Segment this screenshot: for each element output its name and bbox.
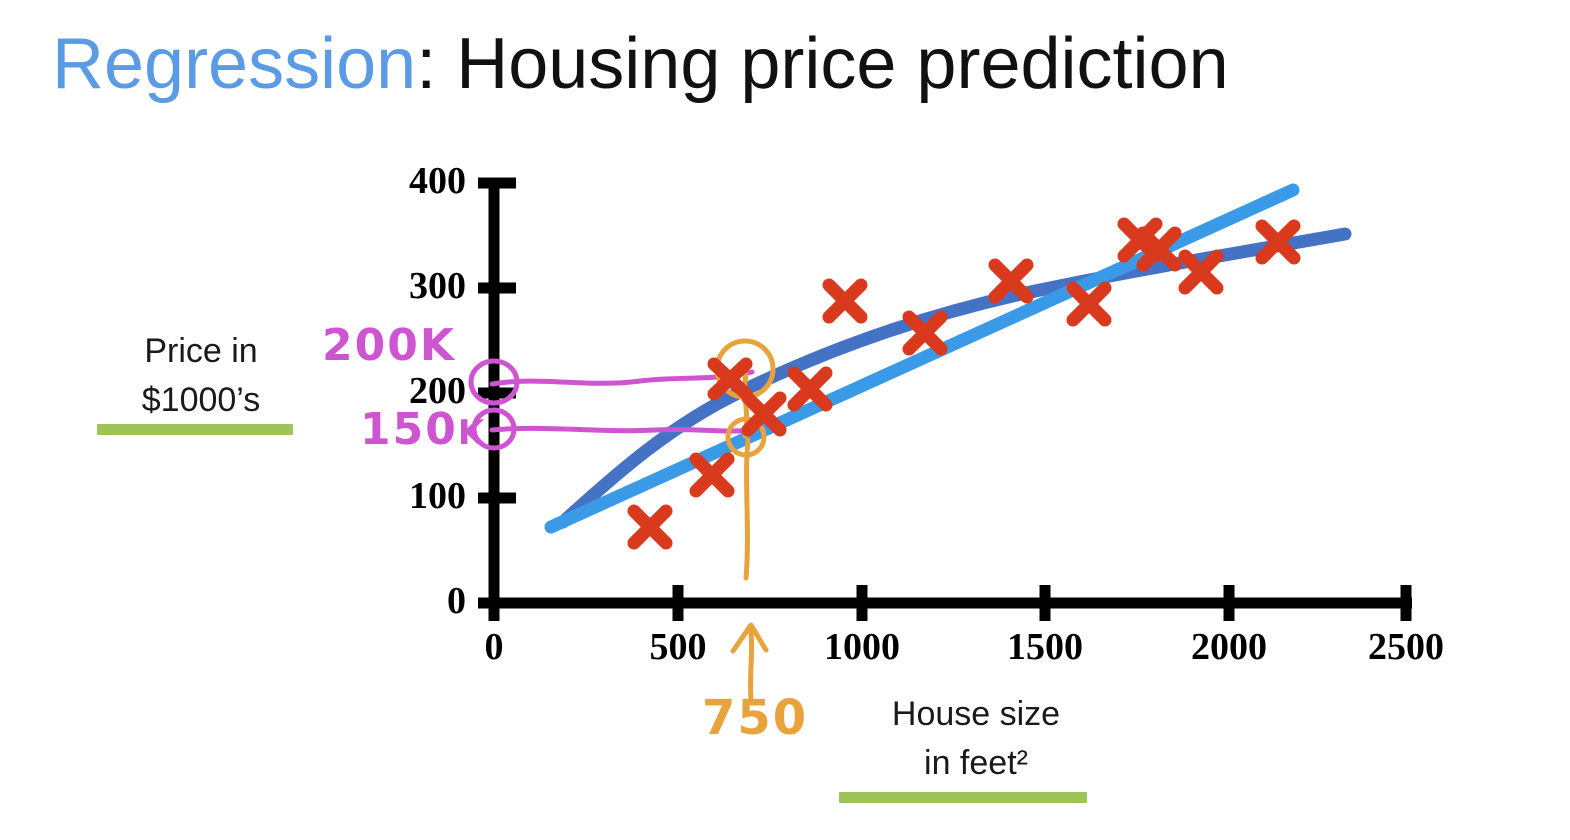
annotation-150k-suffix: K (458, 413, 486, 453)
annotation-150k-number: 150 (360, 404, 458, 455)
y-tick-label-100: 100 (358, 477, 466, 515)
annotation-150k: 150K (360, 408, 486, 452)
magenta-guide-150k-line (492, 428, 752, 431)
x-tick-label-1000: 1000 (792, 628, 932, 666)
magenta-guide-200k-line (492, 372, 752, 384)
data-point-x (829, 285, 861, 317)
x-tick-label-1500: 1500 (975, 628, 1115, 666)
x-tick-label-2000: 2000 (1159, 628, 1299, 666)
x-tick-label-0: 0 (454, 628, 534, 666)
data-point-x (696, 459, 728, 491)
annotation-750: 750 (702, 694, 808, 742)
data-points (634, 224, 1294, 543)
linear-fit-line (551, 190, 1293, 527)
x-tick-label-2500: 2500 (1336, 628, 1476, 666)
data-point-x (1073, 288, 1105, 320)
data-point-x (634, 511, 666, 543)
orange-arrow-stem (750, 626, 752, 700)
x-tick-label-500: 500 (618, 628, 738, 666)
orange-vertical-line (746, 440, 748, 578)
y-tick-label-300: 300 (358, 267, 466, 305)
annotation-200k: 200K (322, 324, 456, 368)
data-point-x (794, 373, 826, 405)
y-tick-label-400: 400 (358, 162, 466, 200)
slide-canvas: Regression: Housing price prediction Pri… (0, 0, 1570, 840)
y-tick-label-0: 0 (358, 582, 466, 620)
scatter-plot: 400 300 200 100 0 0 500 1000 1500 2000 2… (0, 0, 1570, 840)
